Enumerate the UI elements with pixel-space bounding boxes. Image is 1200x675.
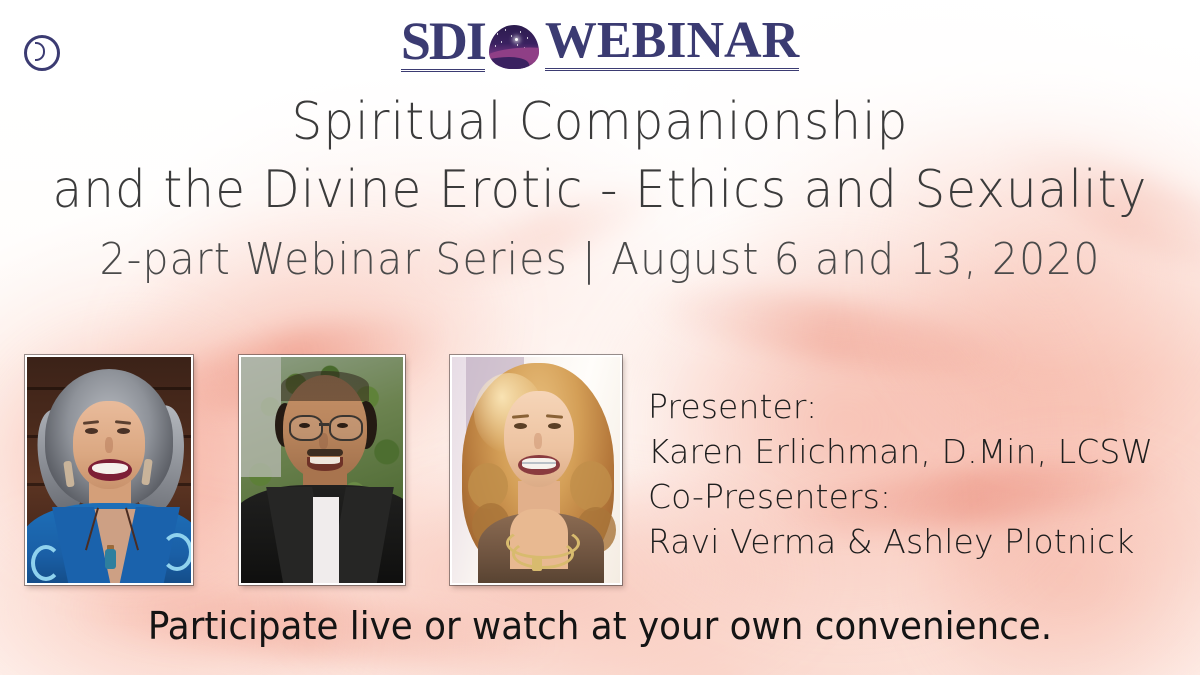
webinar-promo-poster: SDI WEBINAR Spiritual Companionship and … bbox=[0, 0, 1200, 675]
participation-tagline: Participate live or watch at your own co… bbox=[36, 604, 1164, 648]
night-sky-dome-icon bbox=[489, 25, 539, 69]
presenter-label: Presenter: bbox=[648, 384, 1192, 429]
headline-block: Spiritual Companionship and the Divine E… bbox=[0, 96, 1200, 282]
webinar-wordmark: WEBINAR bbox=[545, 15, 799, 71]
headline-line-2: and the Divine Erotic - Ethics and Sexua… bbox=[42, 164, 1158, 216]
sdi-d-circle-icon bbox=[24, 35, 60, 71]
smoke-streak bbox=[638, 271, 1023, 390]
headline-line-1: Spiritual Companionship bbox=[42, 96, 1158, 148]
ravi-verma-photo bbox=[239, 355, 405, 585]
copresenter-names: Ravi Verma & Ashley Plotnick bbox=[648, 519, 1192, 564]
presenter-credits-block: Presenter: Karen Erlichman, D.Min, LCSW … bbox=[648, 384, 1192, 564]
copresenter-label: Co-Presenters: bbox=[648, 474, 1192, 519]
sdi-wordmark: SDI bbox=[401, 14, 485, 72]
headline-line-3-series-and-dates: 2-part Webinar Series | August 6 and 13,… bbox=[42, 238, 1158, 282]
ashley-plotnick-photo bbox=[450, 355, 622, 585]
karen-erlichman-photo bbox=[25, 355, 193, 585]
presenter-name: Karen Erlichman, D.Min, LCSW bbox=[648, 429, 1192, 474]
sdi-webinar-logo: SDI WEBINAR bbox=[0, 13, 1200, 73]
